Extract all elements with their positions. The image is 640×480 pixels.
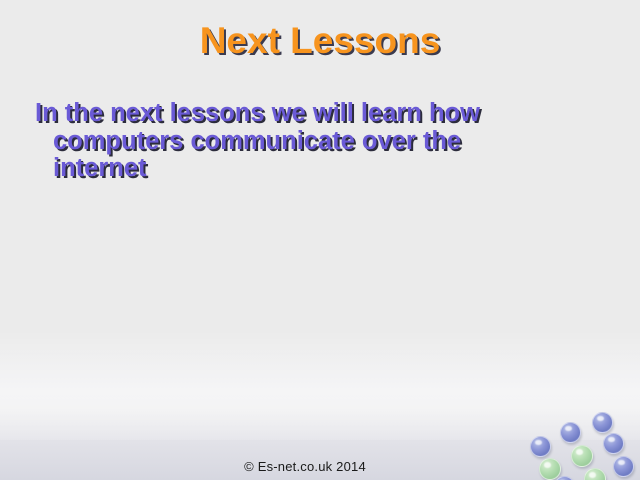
slide-body-placeholder: In the next lessons we will learn how co… [35, 100, 547, 183]
sphere-blue-7 [613, 456, 634, 477]
slide-canvas: Next Lessons In the next lessons we will… [0, 0, 640, 480]
sphere-blue-2 [560, 422, 581, 443]
slide-title: Next Lessons [0, 21, 640, 62]
background-sheen [0, 330, 640, 440]
sphere-blue-1 [592, 412, 613, 433]
sphere-blue-3 [603, 433, 624, 454]
slide-body-text: In the next lessons we will learn how co… [35, 100, 547, 183]
sphere-blue-4 [530, 436, 551, 457]
sphere-blue-9 [554, 476, 575, 480]
slide-footer-copyright: © Es-net.co.uk 2014 [0, 459, 610, 474]
